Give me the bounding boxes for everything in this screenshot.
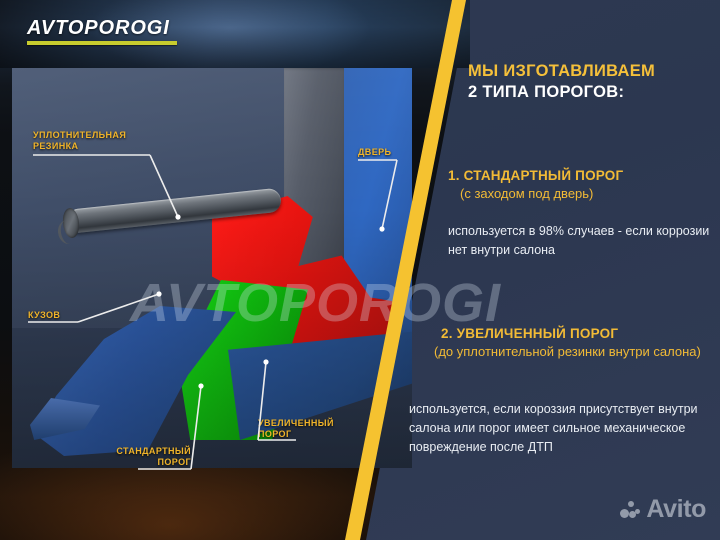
section-1-heading: 1. СТАНДАРТНЫЙ ПОРОГ: [448, 167, 714, 184]
avito-logo-icon: [620, 501, 641, 519]
avito-watermark: Avito: [620, 497, 706, 522]
diagram-artwork: [12, 68, 412, 468]
section-2-body: используется, если короззия присутствует…: [409, 400, 709, 457]
poster-root: AVTOPOROGI AVTOPOROGI: [0, 0, 720, 540]
section-2-heading: 2. УВЕЛИЧЕННЫЙ ПОРОГ: [441, 325, 720, 342]
label-enlarged: УВЕЛИЧЕННЫЙ ПОРОГ: [258, 418, 334, 440]
label-standard: СТАНДАРТНЫЙ ПОРОГ: [94, 446, 191, 468]
brand-logo-underline: [27, 41, 177, 45]
section-1-subheading: (с заходом под дверь): [460, 185, 720, 202]
sill-diagram: [12, 68, 412, 468]
panel-title-line2: 2 ТИПА ПОРОГОВ:: [468, 82, 712, 103]
avito-wordmark: Avito: [646, 497, 706, 522]
label-body: КУЗОВ: [28, 310, 60, 321]
panel-title-line1: МЫ ИЗГОТАВЛИВАЕМ: [468, 61, 712, 82]
panel-title: МЫ ИЗГОТАВЛИВАЕМ 2 ТИПА ПОРОГОВ:: [468, 61, 712, 103]
section-2-subheading: (до уплотнительной резинки внутри салона…: [434, 343, 718, 360]
label-door: ДВЕРЬ: [358, 147, 391, 158]
brand-logo: AVTOPOROGI: [27, 18, 177, 45]
label-seal: УПЛОТНИТЕЛЬНАЯ РЕЗИНКА: [33, 130, 126, 152]
section-1-body: используется в 98% случаев - если корроз…: [448, 222, 714, 260]
brand-logo-text: AVTOPOROGI: [27, 18, 177, 38]
